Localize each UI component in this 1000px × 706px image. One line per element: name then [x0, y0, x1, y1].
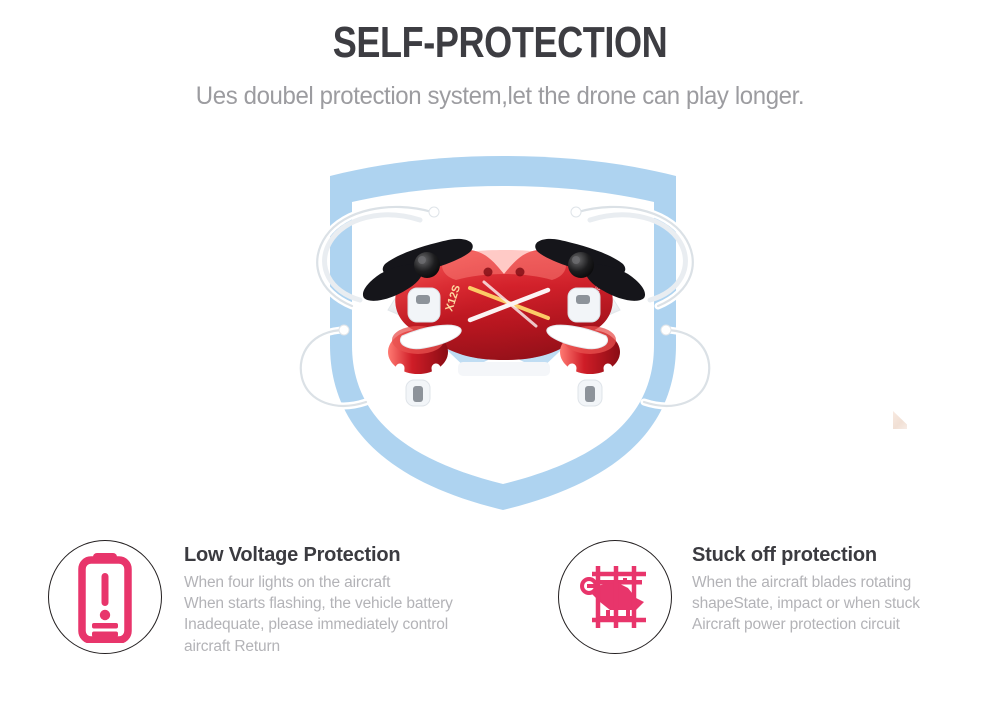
- feature-body-line: Inadequate, please immediately control: [184, 614, 453, 635]
- feature-stuck-off-protection: Stuck off protection When the aircraft b…: [558, 540, 998, 654]
- feature-body: When the aircraft blades rotating shapeS…: [692, 572, 920, 636]
- feature-body: When four lights on the aircraft When st…: [184, 572, 453, 657]
- drone-stand: [458, 362, 550, 376]
- self-protection-page: SELF-PROTECTION Ues doubel protection sy…: [0, 0, 1000, 706]
- feature-title: Low Voltage Protection: [184, 543, 453, 567]
- feature-body-line: When four lights on the aircraft: [184, 572, 453, 593]
- hero-illustration: X12S Syma: [0, 140, 1000, 525]
- feature-text-block: Stuck off protection When the aircraft b…: [692, 540, 920, 636]
- feature-low-voltage-protection: Low Voltage Protection When four lights …: [48, 540, 528, 657]
- feature-body-line: When the aircraft blades rotating: [692, 572, 920, 593]
- feature-body-line: aircraft Return: [184, 636, 453, 657]
- feature-body-line: Aircraft power protection circuit: [692, 614, 920, 635]
- feature-text-block: Low Voltage Protection When four lights …: [184, 540, 453, 657]
- feature-title: Stuck off protection: [692, 543, 920, 567]
- feature-body-line: shapeState, impact or when stuck: [692, 593, 920, 614]
- page-subtitle: Ues doubel protection system,let the dro…: [20, 82, 980, 111]
- battery-low-warning-icon-circle: [48, 540, 162, 654]
- helicopter-behind-bars-icon-circle: [558, 540, 672, 654]
- helicopter-behind-bars-icon: [576, 558, 654, 636]
- battery-low-warning-icon: [75, 551, 135, 643]
- feature-body-line: When starts flashing, the vehicle batter…: [184, 593, 453, 614]
- page-title: SELF-PROTECTION: [90, 20, 910, 66]
